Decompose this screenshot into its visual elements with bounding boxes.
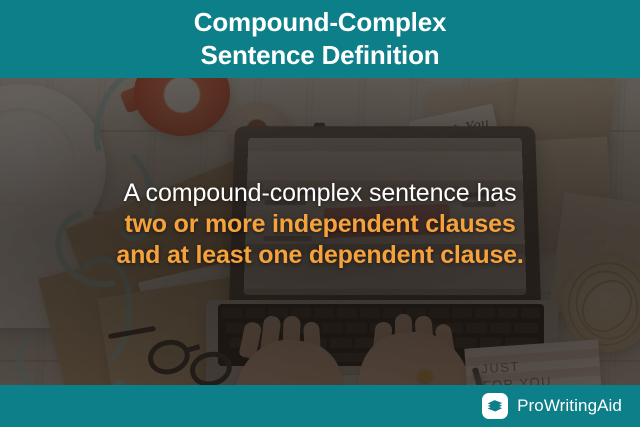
page-title-line-1: Compound-Complex — [194, 6, 446, 39]
definition-line-1: A compound-complex sentence has — [0, 178, 640, 209]
brand-name-label: ProWritingAid — [517, 396, 622, 416]
header-banner: Compound-Complex Sentence Definition — [0, 0, 640, 78]
brand-lockup[interactable]: ProWritingAid — [482, 385, 622, 427]
definition-line-2: two or more independent clauses — [0, 209, 640, 240]
definition-line-3: and at least one dependent clause. — [0, 240, 640, 271]
definition-text-block: A compound-complex sentence has two or m… — [0, 178, 640, 271]
open-book-icon — [482, 393, 508, 419]
infographic-card: Compound-Complex Sentence Definition — [0, 0, 640, 427]
page-title-line-2: Sentence Definition — [201, 39, 440, 72]
footer-banner: ProWritingAid — [0, 385, 640, 427]
